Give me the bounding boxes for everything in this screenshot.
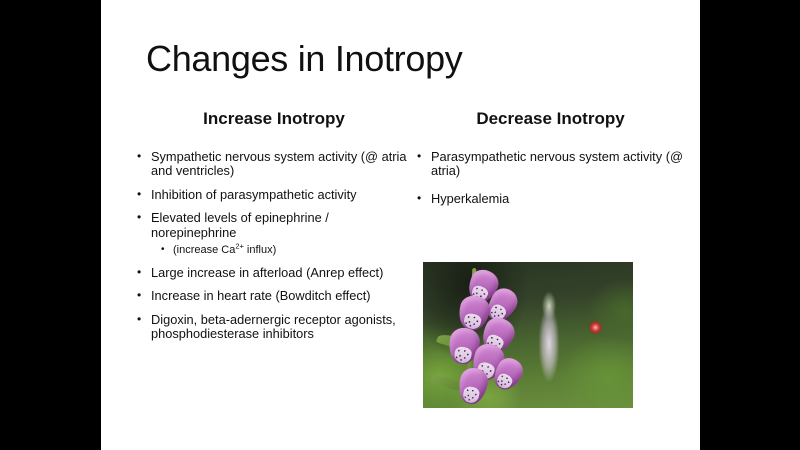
column-heading-decrease: Decrease Inotropy (413, 108, 688, 130)
bullet-text: Hyperkalemia (431, 191, 509, 206)
bullet-text: Parasympathetic nervous system activity … (431, 149, 683, 178)
sub-bullet-text-pre: (increase Ca (173, 244, 235, 256)
bullet-list-increase: Sympathetic nervous system activity (@ a… (133, 150, 415, 342)
bullet-text: Sympathetic nervous system activity (@ a… (151, 149, 407, 178)
sub-bullet-list: (increase Ca2+ influx) (151, 244, 415, 257)
letterbox-bar-right (700, 0, 800, 450)
list-item: Sympathetic nervous system activity (@ a… (133, 150, 415, 179)
letterbox-bar-left (0, 0, 101, 450)
bullet-text: Inhibition of parasympathetic activity (151, 187, 357, 202)
presentation-slide: Changes in Inotropy Increase Inotropy Sy… (101, 0, 700, 450)
column-increase-inotropy: Increase Inotropy Sympathetic nervous sy… (133, 108, 415, 351)
list-item: Digoxin, beta-adernergic receptor agonis… (133, 313, 415, 342)
list-item: Inhibition of parasympathetic activity (133, 188, 415, 202)
list-item: Elevated levels of epinephrine / norepin… (133, 211, 415, 257)
column-decrease-inotropy: Decrease Inotropy Parasympathetic nervou… (413, 108, 688, 219)
sub-list-item: (increase Ca2+ influx) (151, 244, 415, 257)
list-item: Parasympathetic nervous system activity … (413, 150, 688, 179)
red-cursor-dot (590, 322, 601, 333)
bullet-text: Increase in heart rate (Bowditch effect) (151, 288, 371, 303)
page-title: Changes in Inotropy (146, 38, 463, 80)
sub-bullet-superscript: 2+ (235, 241, 244, 250)
bullet-list-decrease: Parasympathetic nervous system activity … (413, 150, 688, 206)
list-item: Hyperkalemia (413, 192, 688, 206)
list-item: Large increase in afterload (Anrep effec… (133, 266, 415, 280)
bullet-text: Digoxin, beta-adernergic receptor agonis… (151, 312, 396, 341)
bullet-text: Elevated levels of epinephrine / norepin… (151, 210, 329, 239)
bullet-text: Large increase in afterload (Anrep effec… (151, 265, 383, 280)
video-frame: Changes in Inotropy Increase Inotropy Sy… (0, 0, 800, 450)
sub-bullet-text-post: influx) (244, 244, 276, 256)
foxglove-flower-spike (439, 266, 535, 408)
column-heading-increase: Increase Inotropy (133, 108, 415, 130)
foxglove-photo (423, 262, 633, 408)
list-item: Increase in heart rate (Bowditch effect) (133, 289, 415, 303)
